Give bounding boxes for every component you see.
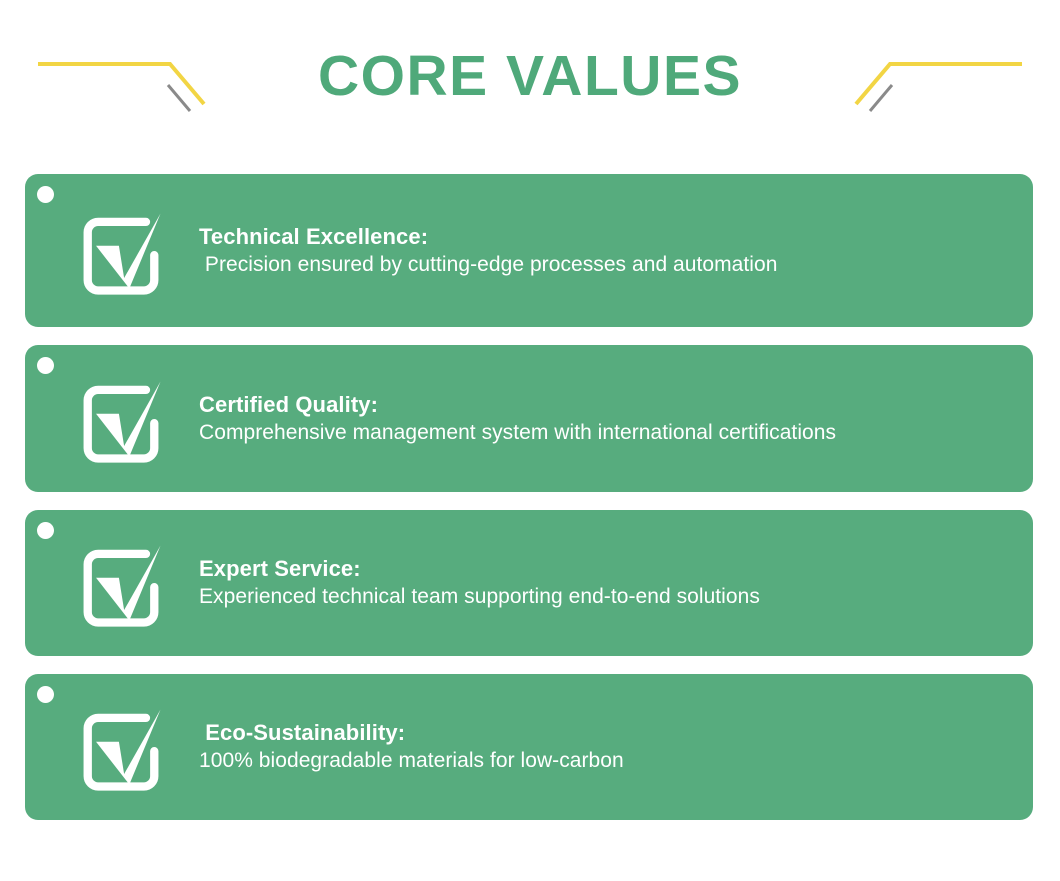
checkbox-check-icon bbox=[65, 367, 177, 471]
card-text-block: Expert Service: Experienced technical te… bbox=[199, 555, 1033, 610]
page-header: CORE VALUES bbox=[0, 0, 1060, 150]
checkbox-check-icon bbox=[65, 695, 177, 799]
value-card-certified-quality[interactable]: Certified Quality: Comprehensive managem… bbox=[25, 345, 1033, 492]
value-card-expert-service[interactable]: Expert Service: Experienced technical te… bbox=[25, 510, 1033, 656]
checkbox-check-icon bbox=[65, 199, 177, 303]
card-description: Comprehensive management system with int… bbox=[199, 419, 1009, 446]
value-card-technical-excellence[interactable]: Technical Excellence: Precision ensured … bbox=[25, 174, 1033, 327]
card-corner-dot-icon bbox=[37, 357, 54, 374]
card-description: Experienced technical team supporting en… bbox=[199, 583, 1009, 610]
card-corner-dot-icon bbox=[37, 186, 54, 203]
card-title: Eco-Sustainability: bbox=[199, 719, 1009, 747]
core-values-list: Technical Excellence: Precision ensured … bbox=[25, 174, 1033, 820]
card-text-block: Certified Quality: Comprehensive managem… bbox=[199, 391, 1033, 446]
card-title: Expert Service: bbox=[199, 555, 1009, 583]
card-title: Technical Excellence: bbox=[199, 223, 1009, 251]
card-corner-dot-icon bbox=[37, 522, 54, 539]
card-text-block: Eco-Sustainability: 100% biodegradable m… bbox=[199, 719, 1033, 774]
card-text-block: Technical Excellence: Precision ensured … bbox=[199, 223, 1033, 278]
card-description: 100% biodegradable materials for low-car… bbox=[199, 747, 1009, 774]
checkbox-check-icon bbox=[65, 531, 177, 635]
card-corner-dot-icon bbox=[37, 686, 54, 703]
value-card-eco-sustainability[interactable]: Eco-Sustainability: 100% biodegradable m… bbox=[25, 674, 1033, 820]
page-title: CORE VALUES bbox=[0, 48, 1060, 105]
card-title: Certified Quality: bbox=[199, 391, 1009, 419]
card-description: Precision ensured by cutting-edge proces… bbox=[199, 251, 1009, 278]
